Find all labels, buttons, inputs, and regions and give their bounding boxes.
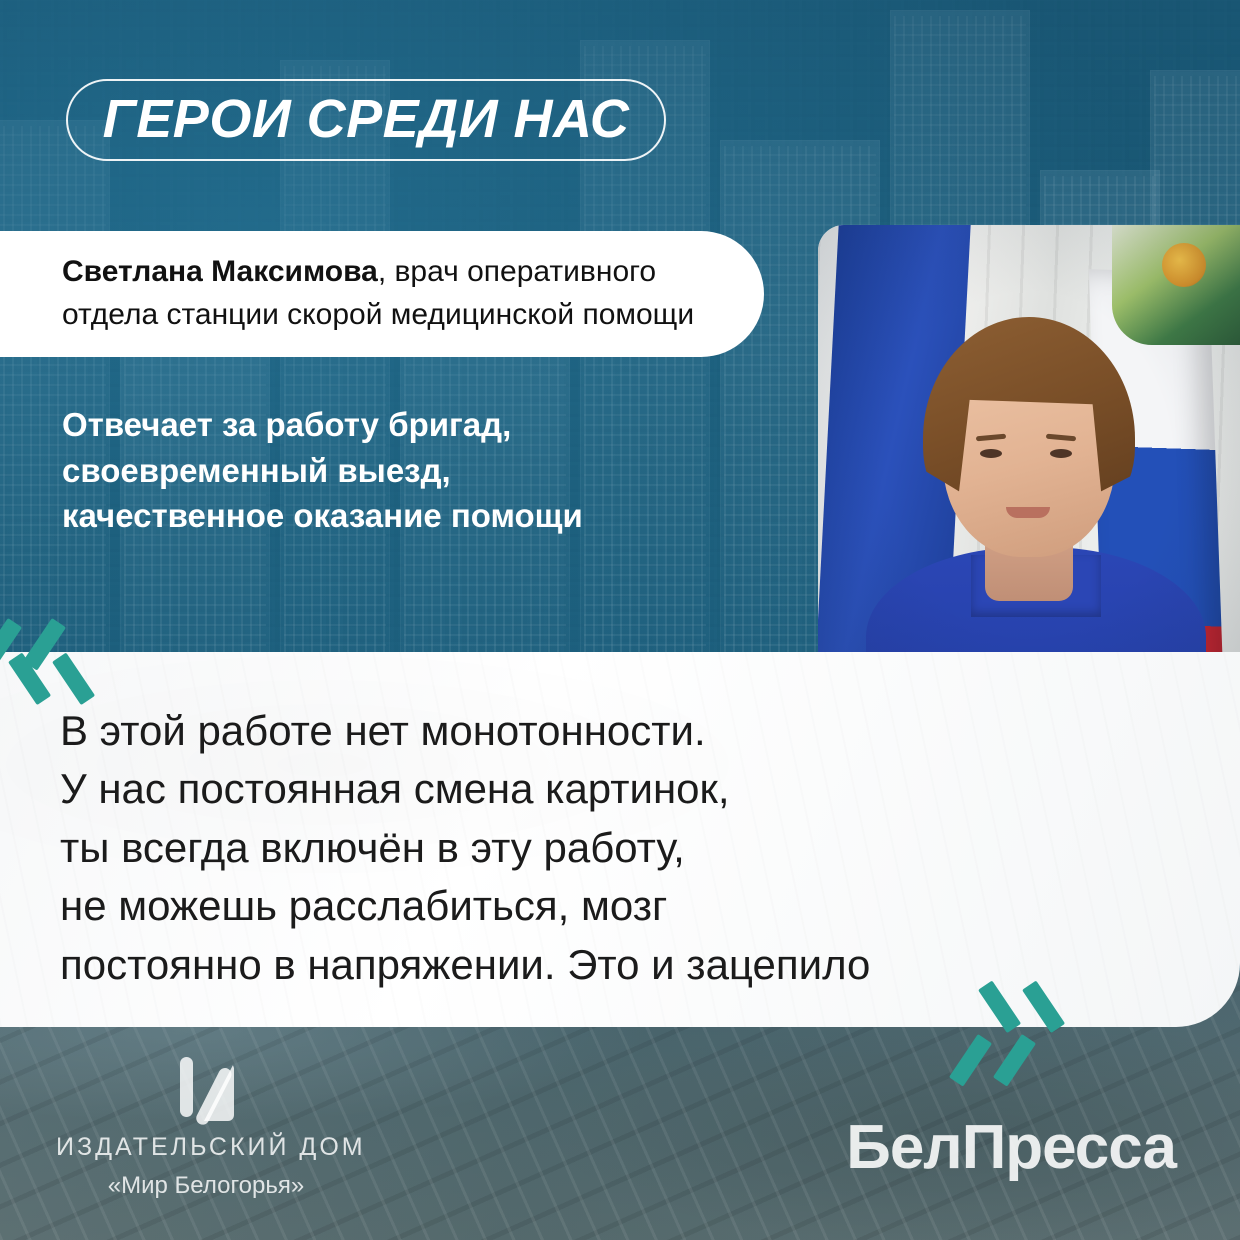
duties-line-3: качественное оказание помощи [62,493,762,539]
person-role-part1: , врач оперативного [378,255,656,288]
publisher-name-line-2: «Мир Белогорья» [56,1172,356,1200]
brand-logo: БелПресса [846,1112,1176,1183]
header-title-pill: ГЕРОИ СРЕДИ НАС [66,79,666,161]
person-name: Светлана Максимова [62,255,378,288]
quote-line-3: ты всегда включён в эту работу, [60,819,990,877]
quote-line-4: не можешь расслабиться, мозг [60,877,990,935]
poster-canvas: ГЕРОИ СРЕДИ НАС Светлана Максимова, врач… [0,0,1240,1240]
person-role-part2: отдела станции скорой медицинской помощи [62,298,694,331]
quote-line-2: У нас постоянная смена картинок, [60,760,990,818]
publisher-name-line-1: ИЗДАТЕЛЬСКИЙ ДОМ [56,1133,356,1162]
publisher-logo: ИЗДАТЕЛЬСКИЙ ДОМ «Мир Белогорья» [56,1057,356,1200]
quote-line-1: В этой работе нет монотонности. [60,702,990,760]
person-name-row: Светлана Максимова, врач оперативного [62,251,700,294]
duties-line-1: Отвечает за работу бригад, [62,402,762,448]
person-role-row: отдела станции скорой медицинской помощи [62,294,700,337]
page-title: ГЕРОИ СРЕДИ НАС [103,88,630,150]
duties-line-2: своевременный выезд, [62,448,762,494]
duties-block: Отвечает за работу бригад, своевременный… [62,402,762,539]
publisher-monogram-icon [178,1057,234,1123]
quote-text-block: В этой работе нет монотонности. У нас по… [60,702,990,994]
quote-line-5: постоянно в напряжении. Это и зацепило [60,936,990,994]
person-name-card: Светлана Максимова, врач оперативного от… [0,231,764,357]
